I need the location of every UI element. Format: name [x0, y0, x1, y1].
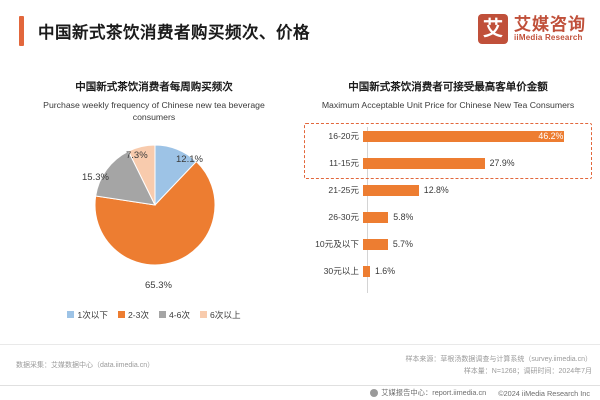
- legend-swatch-icon: [200, 311, 207, 318]
- header: 中国新式茶饮消费者购买频次、价格 艾 艾媒咨询 iiMedia Research: [0, 0, 600, 62]
- bar-fill[interactable]: [363, 212, 388, 223]
- bottom-bar: 艾媒报告中心：report.iimedia.cn ©2024 iiMedia R…: [0, 385, 600, 400]
- bar-track: 12.8%: [363, 177, 596, 203]
- bar-value-label: 27.9%: [490, 158, 515, 168]
- bar-chart-title-cn: 中国新式茶饮消费者可接受最高客单价金额: [300, 80, 596, 95]
- bar-track: 46.2%: [363, 123, 596, 149]
- bar-track: 5.8%: [363, 204, 596, 230]
- bar-row: 10元及以下5.7%: [300, 231, 596, 257]
- legend-item-3[interactable]: 6次以上: [200, 309, 241, 321]
- report-center-label: 艾媒报告中心：report.iimedia.cn: [381, 388, 486, 398]
- logo-name-en: iiMedia Research: [514, 34, 586, 42]
- bar-row: 16-20元46.2%: [300, 123, 596, 149]
- globe-icon: [370, 389, 378, 397]
- footer-divider: [0, 344, 600, 345]
- bar-value-label: 12.8%: [424, 185, 449, 195]
- bar-chart-title-en: Maximum Acceptable Unit Price for Chines…: [300, 99, 596, 112]
- legend-item-1[interactable]: 2-3次: [118, 309, 149, 321]
- bar-fill[interactable]: [363, 239, 388, 250]
- brand-logo: 艾 艾媒咨询 iiMedia Research: [478, 14, 586, 44]
- logo-text: 艾媒咨询 iiMedia Research: [514, 16, 586, 42]
- bar-chart-panel: 中国新式茶饮消费者可接受最高客单价金额 Maximum Acceptable U…: [300, 80, 596, 330]
- bar-fill[interactable]: [363, 185, 419, 196]
- legend-label: 2-3次: [128, 309, 149, 321]
- bar-plot-area: 16-20元46.2%11-15元27.9%21-25元12.8%26-30元5…: [300, 123, 596, 301]
- report-center-link[interactable]: 艾媒报告中心：report.iimedia.cn: [370, 388, 486, 398]
- footer-sample-source: 样本来源：草根汤数据调查与计算系统（survey.iimedia.cn）: [405, 354, 592, 366]
- bar-category-label: 30元以上: [300, 265, 363, 277]
- legend-item-2[interactable]: 4-6次: [159, 309, 190, 321]
- infographic-page: 中国新式茶饮消费者购买频次、价格 艾 艾媒咨询 iiMedia Research…: [0, 0, 600, 400]
- bar-category-label: 21-25元: [300, 184, 363, 196]
- logo-mark-icon: 艾: [478, 14, 508, 44]
- pie-label-3: 7.3%: [126, 150, 148, 161]
- pie-chart-title-cn: 中国新式茶饮消费者每周购买频次: [8, 80, 300, 95]
- bar-row: 11-15元27.9%: [300, 150, 596, 176]
- bar-fill[interactable]: [363, 131, 564, 142]
- logo-name-cn: 艾媒咨询: [514, 16, 586, 34]
- bar-category-label: 11-15元: [300, 157, 363, 169]
- bar-row: 30元以上1.6%: [300, 258, 596, 284]
- legend-swatch-icon: [67, 311, 74, 318]
- bar-row: 26-30元5.8%: [300, 204, 596, 230]
- bar-track: 27.9%: [363, 150, 596, 176]
- legend-label: 1次以下: [77, 309, 108, 321]
- footer-sample-info: 样本来源：草根汤数据调查与计算系统（survey.iimedia.cn） 样本量…: [405, 354, 592, 379]
- legend-label: 6次以上: [210, 309, 241, 321]
- bar-value-label: 5.7%: [393, 239, 413, 249]
- pie-label-0: 12.1%: [176, 154, 203, 165]
- legend-item-0[interactable]: 1次以下: [67, 309, 108, 321]
- bar-value-label: 1.6%: [375, 266, 395, 276]
- footer-data-source: 数据采集：艾媒数据中心（data.iimedia.cn）: [16, 360, 154, 370]
- bar-category-label: 26-30元: [300, 211, 363, 223]
- bar-row: 21-25元12.8%: [300, 177, 596, 203]
- pie-plot-area: 12.1% 7.3% 15.3% 65.3%: [8, 132, 300, 307]
- bar-category-label: 10元及以下: [300, 238, 363, 250]
- bar-value-label: 5.8%: [393, 212, 413, 222]
- legend-swatch-icon: [159, 311, 166, 318]
- bar-fill[interactable]: [363, 266, 370, 277]
- pie-legend: 1次以下2-3次4-6次6次以上: [8, 309, 300, 321]
- legend-swatch-icon: [118, 311, 125, 318]
- bar-value-label: 46.2%: [538, 131, 563, 141]
- pie-chart-panel: 中国新式茶饮消费者每周购买频次 Purchase weekly frequenc…: [8, 80, 300, 330]
- title-accent-bar: [19, 16, 24, 46]
- bar-track: 5.7%: [363, 231, 596, 257]
- bar-fill[interactable]: [363, 158, 485, 169]
- bar-category-label: 16-20元: [300, 130, 363, 142]
- bar-track: 1.6%: [363, 258, 596, 284]
- page-title: 中国新式茶饮消费者购买频次、价格: [38, 19, 310, 43]
- pie-label-2: 15.3%: [82, 172, 109, 183]
- copyright-label: ©2024 iiMedia Research Inc: [498, 389, 590, 398]
- footer-sample-size: 样本量：N=1268；调研时间：2024年7月: [405, 366, 592, 378]
- pie-chart-title-en: Purchase weekly frequency of Chinese new…: [8, 99, 300, 124]
- legend-label: 4-6次: [169, 309, 190, 321]
- pie-label-1: 65.3%: [145, 280, 172, 291]
